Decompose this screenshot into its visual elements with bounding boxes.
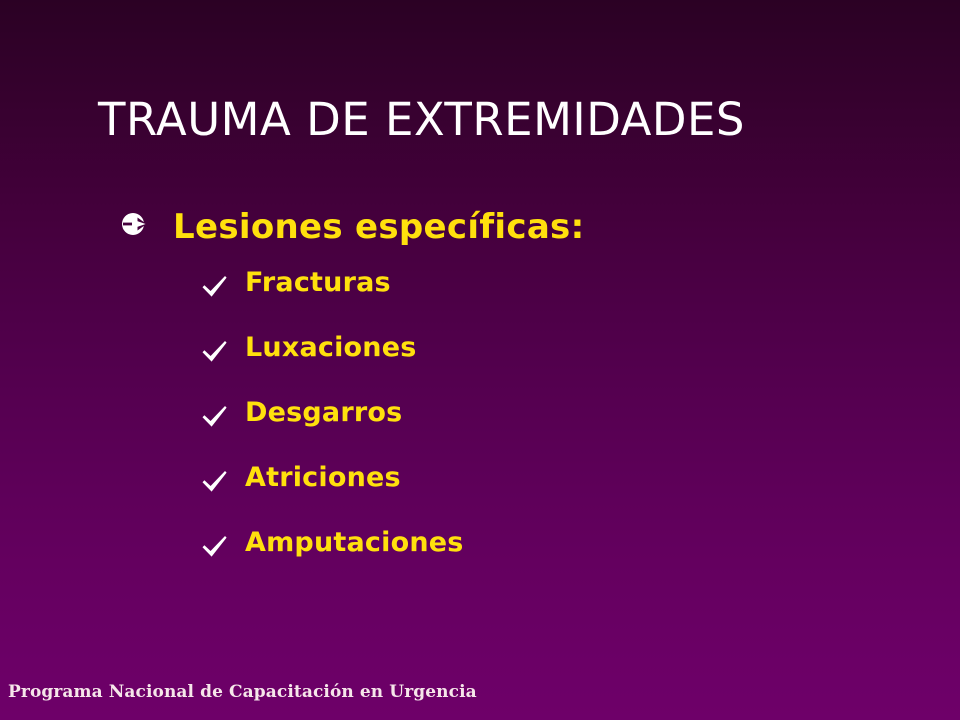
list-item-label: Amputaciones	[245, 526, 464, 560]
slide-footer: Programa Nacional de Capacitación en Urg…	[8, 682, 477, 702]
list-item: Amputaciones	[0, 518, 960, 583]
checkmark-bullet-icon	[200, 272, 230, 302]
list-item-level1: Lesiones específicas:	[0, 196, 960, 258]
list-item-label: Fracturas	[245, 266, 391, 300]
list-item-level1-label: Lesiones específicas:	[173, 207, 585, 247]
list-item-label: Atriciones	[245, 461, 401, 495]
arrow-circle-right-bullet-icon	[118, 207, 152, 241]
checkmark-bullet-icon	[200, 402, 230, 432]
checkmark-bullet-icon	[200, 467, 230, 497]
presentation-slide: TRAUMA DE EXTREMIDADES Lesiones	[0, 0, 960, 720]
slide-body-list: Lesiones específicas: Fracturas Luxacion…	[0, 196, 960, 583]
list-item: Fracturas	[0, 258, 960, 323]
list-item-label: Desgarros	[245, 396, 402, 430]
list-item-label: Luxaciones	[245, 331, 416, 365]
checkmark-bullet-icon	[200, 337, 230, 367]
checkmark-bullet-icon	[200, 532, 230, 562]
list-item: Luxaciones	[0, 323, 960, 388]
list-item: Atriciones	[0, 453, 960, 518]
list-item: Desgarros	[0, 388, 960, 453]
page-title: TRAUMA DE EXTREMIDADES	[98, 92, 898, 148]
